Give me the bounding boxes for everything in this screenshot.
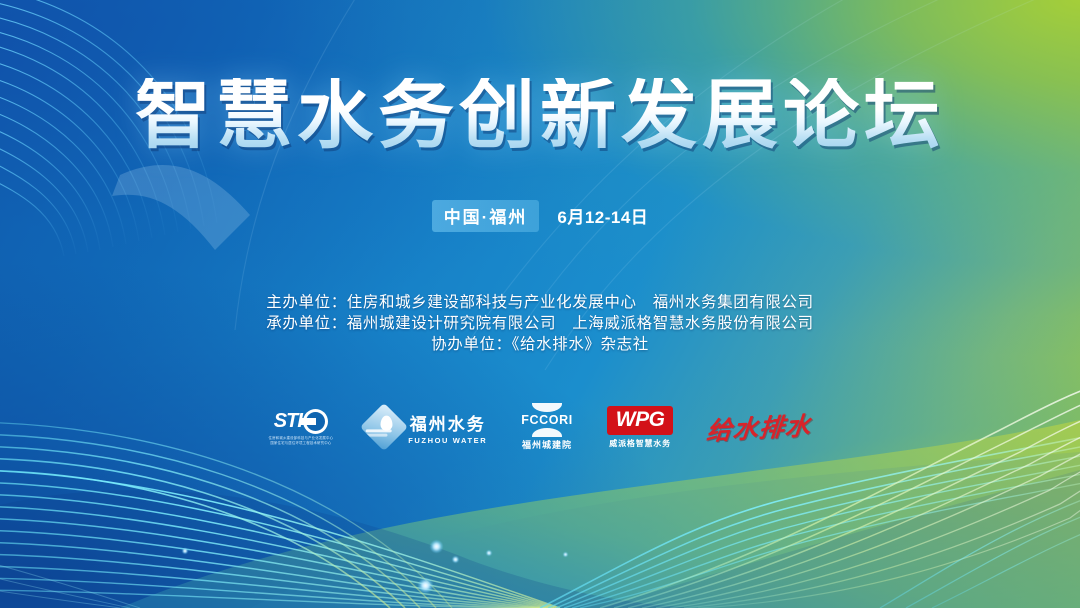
title-block: 智慧水务创新发展论坛 bbox=[0, 78, 1080, 154]
subtitle-row: 中国·福州6月12-14日 bbox=[0, 200, 1080, 232]
journal-title-cn: 给水排水 bbox=[706, 406, 814, 447]
organizer-line-host: 主办单位：住房和城乡建设部科技与产业化发展中心 福州水务集团有限公司 bbox=[0, 292, 1080, 313]
glow-dot bbox=[486, 550, 492, 556]
glow-dot bbox=[452, 556, 459, 563]
fuzhou-water-cn: 福州水务 bbox=[410, 410, 486, 435]
wave-line-icon bbox=[366, 429, 392, 432]
water-drop-diamond-icon bbox=[360, 403, 408, 451]
sponsor-logo-row: STI 住房和城乡建设部科技与产业化发展中心 国家住宅与居住环境工程技术研究中心… bbox=[0, 398, 1080, 456]
logo-water-supply-drainage-journal: 给水排水 bbox=[707, 398, 811, 456]
wave-line-icon bbox=[362, 434, 388, 437]
fccori-cn: 福州城建院 bbox=[522, 438, 572, 451]
logo-stid: STI 住房和城乡建设部科技与产业化发展中心 国家住宅与居住环境工程技术研究中心 bbox=[269, 398, 334, 456]
fuzhou-water-text: 福州水务 FUZHOU WATER bbox=[408, 410, 487, 445]
glow-dot bbox=[418, 578, 433, 593]
lens-leaf-icon bbox=[532, 403, 562, 412]
glow-dot bbox=[430, 540, 443, 553]
location-chip: 中国·福州 bbox=[432, 200, 540, 232]
organizer-block: 主办单位：住房和城乡建设部科技与产业化发展中心 福州水务集团有限公司 承办单位：… bbox=[0, 292, 1080, 355]
poster-canvas: 智慧水务创新发展论坛 中国·福州6月12-14日 主办单位：住房和城乡建设部科技… bbox=[0, 0, 1080, 608]
d-ring-icon bbox=[303, 409, 328, 434]
fccori-en: FCCORI bbox=[521, 413, 573, 427]
event-date: 6月12-14日 bbox=[557, 203, 648, 228]
stid-subtext: 住房和城乡建设部科技与产业化发展中心 国家住宅与居住环境工程技术研究中心 bbox=[269, 436, 334, 445]
organizer-line-undertake: 承办单位：福州城建设计研究院有限公司 上海威派格智慧水务股份有限公司 bbox=[0, 313, 1080, 334]
organizer-line-support: 协办单位：《给水排水》杂志社 bbox=[0, 334, 1080, 355]
glow-dot bbox=[182, 548, 188, 554]
logo-fccori: FCCORI 福州城建院 bbox=[521, 398, 573, 456]
fuzhou-water-en: FUZHOU WATER bbox=[408, 436, 487, 445]
logo-wpg: WPG 威派格智慧水务 bbox=[607, 398, 674, 456]
logo-fuzhou-water: 福州水务 FUZHOU WATER bbox=[367, 398, 487, 456]
poster-title: 智慧水务创新发展论坛 bbox=[135, 78, 945, 154]
stid-mark: STI bbox=[274, 409, 328, 434]
water-drop-icon bbox=[381, 416, 393, 431]
lens-leaf-icon bbox=[532, 428, 562, 437]
wpg-badge: WPG bbox=[607, 406, 674, 435]
wpg-cn: 威派格智慧水务 bbox=[609, 438, 671, 449]
stid-abbr-text: STI bbox=[274, 410, 302, 433]
wpg-en: WPG bbox=[616, 408, 665, 431]
glow-dot bbox=[563, 552, 568, 557]
